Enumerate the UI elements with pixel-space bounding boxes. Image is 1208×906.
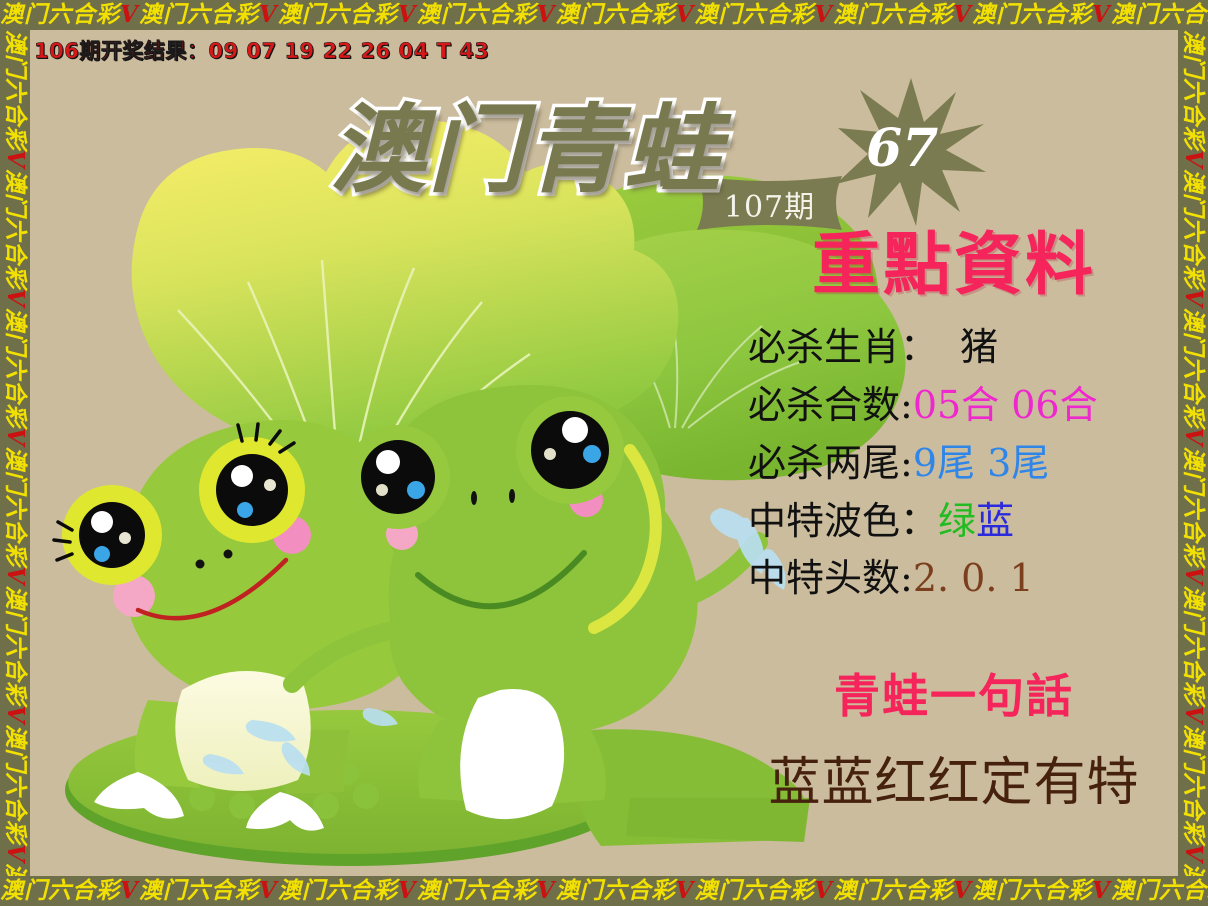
border-repeat-text-right: 澳门六合彩V澳门六合彩V澳门六合彩V澳门六合彩V澳门六合彩V澳门六合彩V澳门六合… bbox=[1180, 30, 1206, 876]
poster-root: 澳门六合彩V澳门六合彩V澳门六合彩V澳门六合彩V澳门六合彩V澳门六合彩V澳门六合… bbox=[0, 0, 1208, 906]
info-row: 必杀合数:05合 06合 bbox=[748, 377, 1178, 435]
border-band-left: 澳门六合彩V澳门六合彩V澳门六合彩V澳门六合彩V澳门六合彩V澳门六合彩V澳门六合… bbox=[0, 30, 30, 876]
border-band-bottom: 澳门六合彩V澳门六合彩V澳门六合彩V澳门六合彩V澳门六合彩V澳门六合彩V澳门六合… bbox=[0, 876, 1208, 906]
info-row-value: 05合 06合 bbox=[913, 383, 1098, 427]
starburst-number: 67 bbox=[866, 118, 938, 179]
info-row-value: 2. 0. 1 bbox=[913, 556, 1034, 600]
poster-canvas: 106期开奖结果：09 07 19 22 26 04 T 43 67 107期 … bbox=[30, 30, 1178, 876]
footer-block: 青蛙一句話 蓝蓝红红定有特 bbox=[730, 660, 1178, 815]
panel-heading: 重點資料 bbox=[730, 230, 1178, 301]
info-row: 必杀生肖：猪 bbox=[748, 319, 1178, 377]
info-row-label: 中特头数: bbox=[748, 556, 913, 600]
info-row-value: 蓝 bbox=[976, 499, 1014, 543]
info-row-label: 中特波色： bbox=[748, 499, 938, 543]
info-row-value: 绿 bbox=[938, 499, 976, 543]
border-band-top: 澳门六合彩V澳门六合彩V澳门六合彩V澳门六合彩V澳门六合彩V澳门六合彩V澳门六合… bbox=[0, 0, 1208, 30]
info-row: 中特波色：绿蓝 bbox=[748, 493, 1178, 551]
info-row-value: 猪 bbox=[960, 325, 998, 369]
border-repeat-text-left: 澳门六合彩V澳门六合彩V澳门六合彩V澳门六合彩V澳门六合彩V澳门六合彩V澳门六合… bbox=[2, 30, 28, 876]
footer-title: 青蛙一句話 bbox=[730, 660, 1178, 726]
border-band-right: 澳门六合彩V澳门六合彩V澳门六合彩V澳门六合彩V澳门六合彩V澳门六合彩V澳门六合… bbox=[1178, 30, 1208, 876]
border-repeat-text-top: 澳门六合彩V澳门六合彩V澳门六合彩V澳门六合彩V澳门六合彩V澳门六合彩V澳门六合… bbox=[0, 2, 1208, 28]
draw-result-line: 106期开奖结果：09 07 19 22 26 04 T 43 bbox=[34, 35, 489, 65]
info-row-label: 必杀生肖： bbox=[748, 325, 938, 369]
footer-phrase: 蓝蓝红红定有特 bbox=[730, 740, 1178, 815]
info-row: 中特头数:2. 0. 1 bbox=[748, 550, 1178, 608]
frog-right-eye-left bbox=[346, 425, 450, 529]
info-row-label: 必杀两尾: bbox=[748, 441, 913, 485]
info-row-label: 必杀合数: bbox=[748, 383, 913, 427]
border-repeat-text-bottom: 澳门六合彩V澳门六合彩V澳门六合彩V澳门六合彩V澳门六合彩V澳门六合彩V澳门六合… bbox=[0, 878, 1208, 904]
info-panel: 重點資料 必杀生肖：猪必杀合数:05合 06合必杀两尾:9尾 3尾中特波色：绿蓝… bbox=[730, 230, 1178, 815]
frog-left-eye-left bbox=[54, 485, 162, 585]
frog-right-eye-right bbox=[516, 396, 624, 504]
info-row-value: 9尾 3尾 bbox=[913, 441, 1049, 485]
page-title: 澳门青蛙 bbox=[330, 72, 722, 211]
info-row: 必杀两尾:9尾 3尾 bbox=[748, 435, 1178, 493]
info-rows: 必杀生肖：猪必杀合数:05合 06合必杀两尾:9尾 3尾中特波色：绿蓝中特头数:… bbox=[730, 319, 1178, 608]
